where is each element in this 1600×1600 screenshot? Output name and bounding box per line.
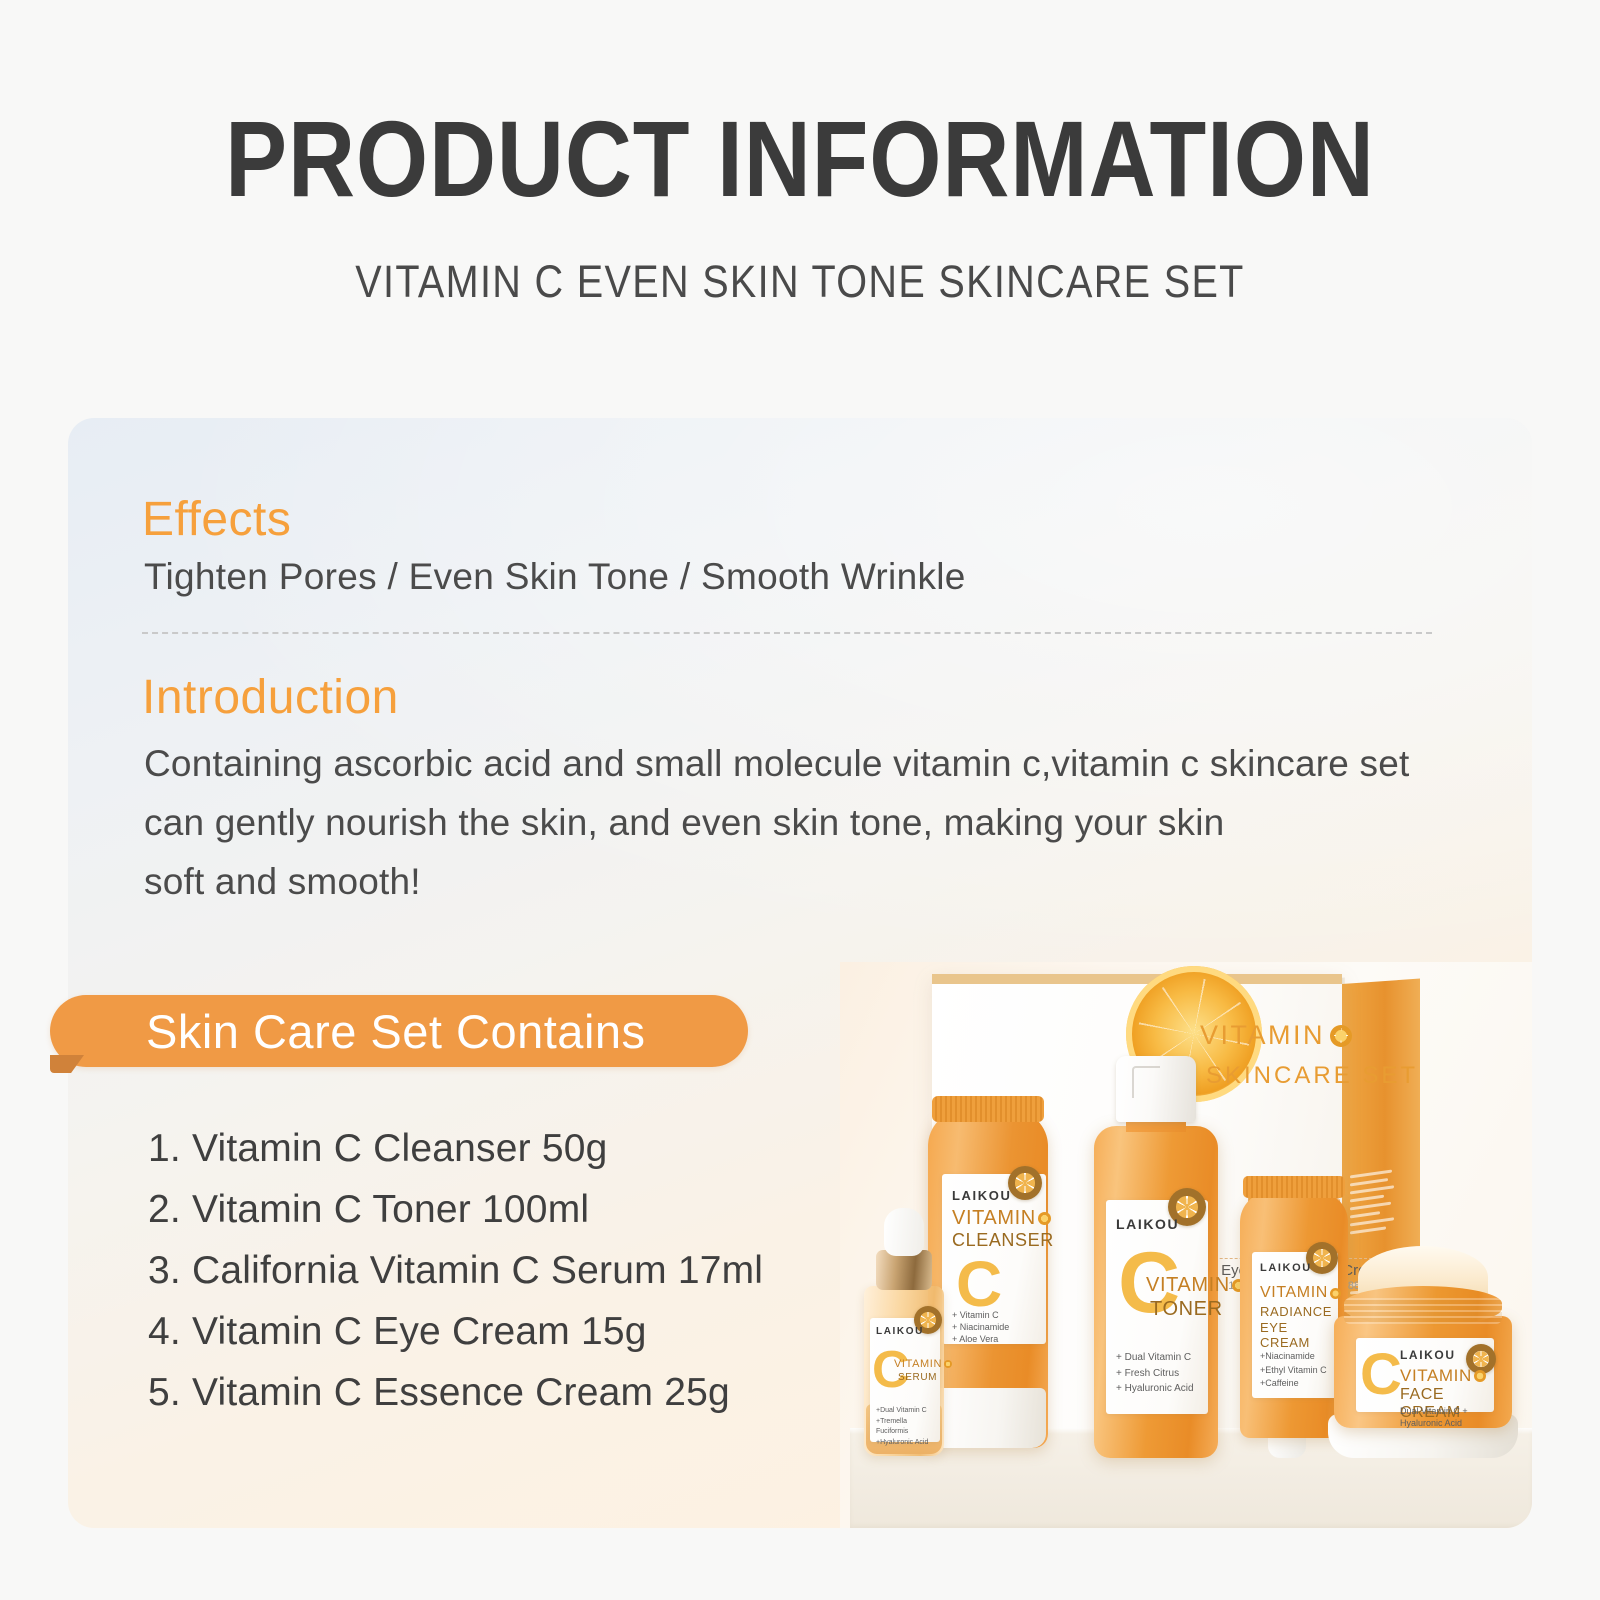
eye-cream-label: LAIKOU VITAMIN RADIANCE EYE CREAM +Niaci… (1252, 1252, 1338, 1398)
introduction-body: Containing ascorbic acid and small molec… (144, 734, 1464, 911)
eye-cream-line3: EYE CREAM (1260, 1320, 1338, 1350)
product-serum: LAIKOU C VITAMIN SERUM +Dual Vitamin C +… (858, 1208, 950, 1456)
toner-line2: TONER (1150, 1298, 1223, 1321)
cleanser-brand: LAIKOU (952, 1188, 1011, 1203)
skin-care-set-banner: Skin Care Set Contains (50, 995, 748, 1067)
toner-cap (1116, 1056, 1196, 1122)
list-item: 3. California Vitamin C Serum 17ml (148, 1240, 763, 1301)
box-subtitle: SKINCARE SET (1206, 1062, 1418, 1090)
introduction-line: soft and smooth! (144, 852, 1464, 911)
product-face-cream: C LAIKOU VITAMIN FACE CREAM Dual Vitamin… (1328, 1246, 1518, 1458)
big-c-decoration: C (1360, 1346, 1402, 1404)
product-toner: LAIKOU C VITAMIN TONER + Dual Vitamin C … (1092, 1056, 1220, 1458)
toner-label: LAIKOU C VITAMIN TONER + Dual Vitamin C … (1106, 1200, 1208, 1414)
section-divider (142, 632, 1432, 634)
effects-heading: Effects (142, 492, 291, 547)
cleanser-line1: VITAMIN (952, 1207, 1051, 1230)
page-title: PRODUCT INFORMATION (112, 96, 1488, 221)
set-contents-list: 1. Vitamin C Cleanser 50g 2. Vitamin C T… (148, 1118, 763, 1423)
cleanser-label: LAIKOU VITAMIN CLEANSER C + Vitamin C + … (942, 1174, 1046, 1344)
introduction-line: can gently nourish the skin, and even sk… (144, 793, 1464, 852)
eye-cream-bullets: +Niacinamide +Ethyl Vitamin C +Caffeine (1260, 1350, 1327, 1391)
big-c-decoration: C (872, 1344, 910, 1396)
vitamin-c-logo-icon (1330, 1025, 1352, 1047)
page-subtitle: VITAMIN C EVEN SKIN TONE SKINCARE SET (96, 256, 1504, 308)
eye-cream-cap (1243, 1176, 1345, 1198)
serum-collar (876, 1250, 932, 1290)
box-top-edge (932, 974, 1342, 984)
serum-line2: SERUM (898, 1372, 937, 1383)
effects-body: Tighten Pores / Even Skin Tone / Smooth … (144, 556, 966, 598)
banner-pill: Skin Care Set Contains (50, 995, 748, 1067)
serum-label: LAIKOU C VITAMIN SERUM +Dual Vitamin C +… (870, 1318, 940, 1442)
box-title: VITAMIN (1200, 1020, 1400, 1051)
toner-bullets: + Dual Vitamin C + Fresh Citrus + Hyalur… (1116, 1350, 1194, 1397)
vitamin-c-logo-icon (1038, 1212, 1051, 1225)
introduction-line: Containing ascorbic acid and small molec… (144, 734, 1464, 793)
serum-line1: VITAMIN (894, 1358, 952, 1370)
serum-bullets: +Dual Vitamin C +Tremella Fuciformis +Hy… (876, 1406, 940, 1448)
box-title-text: VITAMIN (1200, 1020, 1325, 1051)
cleanser-cap (932, 1096, 1044, 1122)
list-item: 5. Vitamin C Essence Cream 25g (148, 1362, 763, 1423)
face-cream-brand: LAIKOU (1400, 1348, 1456, 1362)
serum-brand: LAIKOU (876, 1326, 924, 1337)
product-photo: VITAMIN SKINCARE SET rum 59 fl.oz. Eye c… (840, 962, 1532, 1528)
list-item: 2. Vitamin C Toner 100ml (148, 1179, 763, 1240)
vitamin-c-logo-icon (1474, 1370, 1486, 1382)
eye-cream-brand: LAIKOU (1260, 1262, 1312, 1274)
orange-seal-icon (1008, 1166, 1042, 1200)
face-cream-threads (1344, 1298, 1502, 1324)
dropper-icon (884, 1208, 924, 1256)
cleanser-bullets: + Vitamin C + Niacinamide + Aloe Vera (952, 1310, 1009, 1346)
big-c-decoration: C (956, 1252, 1002, 1316)
product-information-page: PRODUCT INFORMATION VITAMIN C EVEN SKIN … (0, 0, 1600, 1600)
list-item: 4. Vitamin C Eye Cream 15g (148, 1301, 763, 1362)
toner-line1: VITAMIN (1146, 1274, 1245, 1297)
eye-cream-line2: RADIANCE (1260, 1304, 1332, 1319)
face-cream-label: C LAIKOU VITAMIN FACE CREAM Dual Vitamin… (1356, 1338, 1494, 1412)
banner-label: Skin Care Set Contains (146, 1004, 646, 1059)
face-cream-line1: VITAMIN (1400, 1366, 1486, 1386)
vitamin-c-logo-icon (944, 1360, 952, 1368)
face-cream-bullets: Dual Vitamin C + Hyaluronic Acid (1400, 1406, 1494, 1430)
list-item: 1. Vitamin C Cleanser 50g (148, 1118, 763, 1179)
introduction-heading: Introduction (142, 670, 399, 725)
toner-brand: LAIKOU (1116, 1216, 1179, 1232)
